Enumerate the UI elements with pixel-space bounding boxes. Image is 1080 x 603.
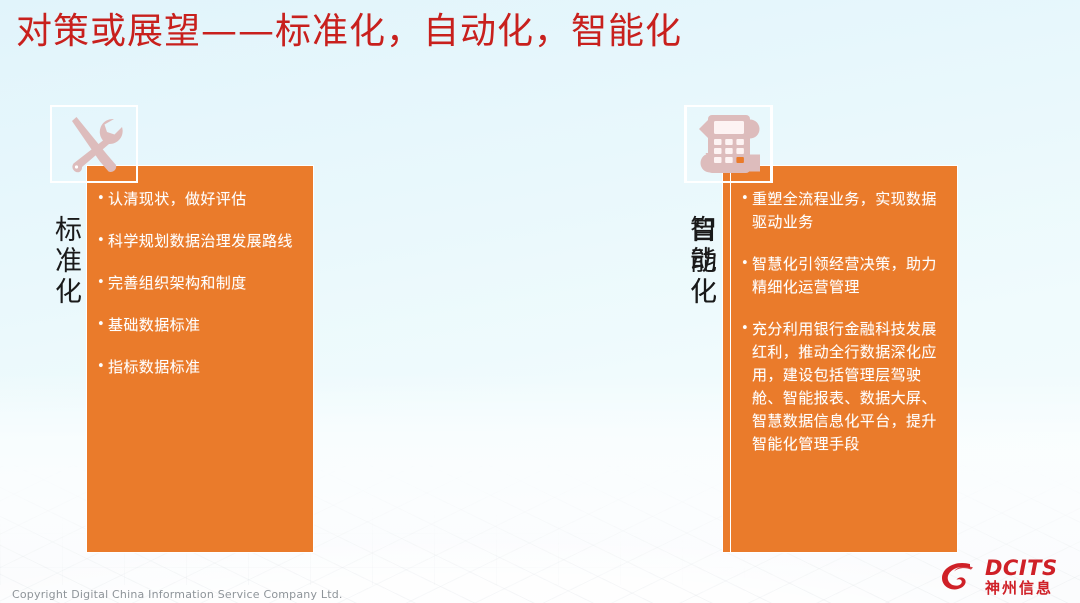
list-item: 重塑全流程业务，实现数据驱动业务 xyxy=(741,188,945,234)
wrench-screwdriver-icon xyxy=(63,115,125,173)
list-item: 基础数据标准 xyxy=(97,314,301,337)
bullet-list-standardization: 认清现状，做好评估 科学规划数据治理发展路线 完善组织架构和制度 基础数据标准 … xyxy=(97,188,301,379)
list-item: 智慧化引领经营决策，助力精细化运营管理 xyxy=(741,253,945,299)
panel-standardization: 认清现状，做好评估 科学规划数据治理发展路线 完善组织架构和制度 基础数据标准 … xyxy=(86,165,314,553)
column-automation: 自动化 数据安全分类分级 数据对标落标 元数据采集、检索 血缘分析，影响分析 数… xyxy=(315,0,655,603)
column-intelligence: 智能化 重塑全流程业务，实现数据驱动业务 智慧化引领经营决策，助力精细化运营管理… xyxy=(625,0,965,603)
list-item: 充分利用银行金融科技发展红利，推动全行数据深化应用，建设包括管理层驾驶舱、智能报… xyxy=(741,318,945,456)
dcits-logo: DCITS 神州信息 xyxy=(940,555,1072,599)
calculator-icon xyxy=(706,113,752,175)
dcits-swirl-icon xyxy=(940,560,980,594)
logo-text-cn: 神州信息 xyxy=(985,579,1058,597)
panel-intelligence: 重塑全流程业务，实现数据驱动业务 智慧化引领经营决策，助力精细化运营管理 充分利… xyxy=(730,165,958,553)
bullet-list-intelligence: 重塑全流程业务，实现数据驱动业务 智慧化引领经营决策，助力精细化运营管理 充分利… xyxy=(741,188,945,456)
slide-canvas: 对策或展望——标准化，自动化，智能化 标准化 认清现状，做好评估 科学规划数据治… xyxy=(0,0,1080,603)
list-item: 科学规划数据治理发展路线 xyxy=(97,230,301,253)
list-item: 指标数据标准 xyxy=(97,356,301,379)
column-label-standardization: 标准化 xyxy=(52,196,84,326)
logo-wordmark: DCITS 神州信息 xyxy=(985,558,1058,597)
list-item: 认清现状，做好评估 xyxy=(97,188,301,211)
list-item: 完善组织架构和制度 xyxy=(97,272,301,295)
column-standardization: 标准化 认清现状，做好评估 科学规划数据治理发展路线 完善组织架构和制度 基础数… xyxy=(0,0,340,603)
icon-frame-intelligence xyxy=(685,105,773,183)
logo-text-en: DCITS xyxy=(985,558,1058,579)
column-label-intelligence: 智能化 xyxy=(687,196,719,326)
copyright-text: Copyright Digital China Information Serv… xyxy=(12,588,343,602)
icon-frame-standardization xyxy=(50,105,138,183)
